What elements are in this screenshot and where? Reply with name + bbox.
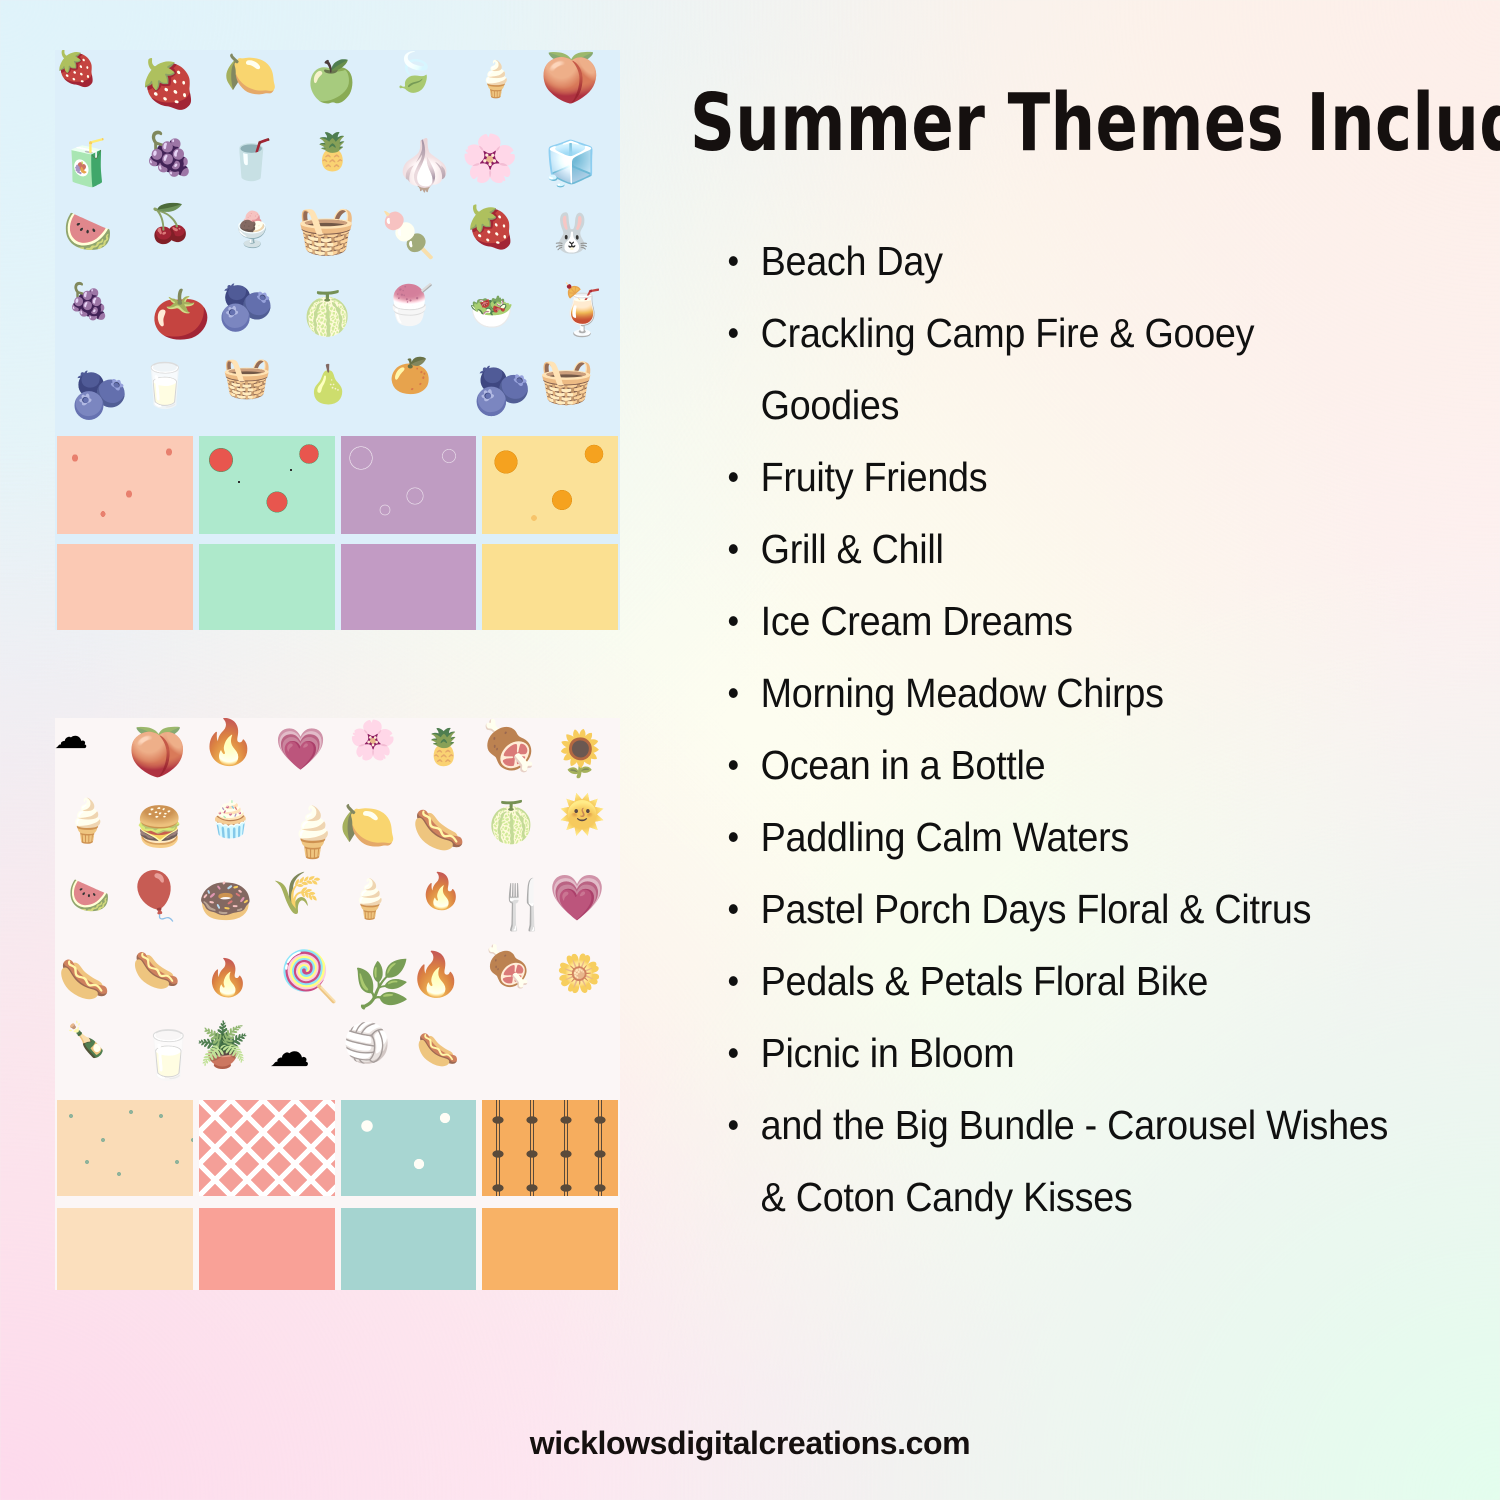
- citrus-line-pattern: [341, 436, 477, 534]
- watermelon-icon: 🍉: [68, 879, 110, 913]
- flower-icon: 🌸: [461, 135, 518, 181]
- grill-and-chill-pattern-row: [55, 1100, 620, 1196]
- theme-list-item: Pedals & Petals Floral Bike: [722, 945, 1398, 1017]
- strawberry-icon: 🍓: [55, 52, 97, 86]
- cream-popsicle-icon: 🍡: [381, 214, 436, 258]
- blue-drink-icon: 🥤: [227, 141, 276, 180]
- mint-swatch: [199, 544, 335, 630]
- grape-monster-icon: 🍇: [67, 284, 111, 319]
- cocktail-icon: 🍹: [552, 287, 613, 336]
- beach-ball-icon: 🏐: [343, 1025, 390, 1063]
- cream-swatch: [57, 1208, 193, 1290]
- fruity-friends-preview-panel: 🍓🍓🍋🍏🍃🍦🍑🧃🍇🥤🍍🧄🌸🧊🍉🍒🍨🧺🍡🍓🐰🍇🍅🫐🍈🍧🥗🍹🫐🥛🧺🍐🍊🫐🧺: [55, 50, 620, 630]
- site-footer: wicklowsdigitalcreations.com: [0, 1425, 1500, 1500]
- sausage-icon: 🌭: [412, 810, 466, 853]
- white-onion-icon: 🧄: [394, 142, 455, 191]
- lemon-slice-icon: 🍋: [339, 802, 396, 848]
- theme-list-item: Picnic in Bloom: [722, 1017, 1398, 1089]
- mint-popsicle-icon: 🍦: [474, 62, 518, 97]
- salmon-swatch: [199, 1208, 335, 1290]
- heart-icon: 💗: [275, 729, 326, 770]
- plum-icon: 🫐: [473, 367, 532, 414]
- page-title: Summer Themes Included:: [690, 78, 1448, 170]
- bottle-icon: 🍾: [65, 1023, 107, 1057]
- theme-list: Beach DayCrackling Camp Fire & Gooey Goo…: [722, 225, 1457, 1233]
- cloud-icon: ☁: [55, 720, 88, 754]
- fruity-friends-sticker-art: 🍓🍓🍋🍏🍃🍦🍑🧃🍇🥤🍍🧄🌸🧊🍉🍒🍨🧺🍡🍓🐰🍇🍅🫐🍈🍧🥗🍹🫐🥛🧺🍐🍊🫐🧺: [55, 50, 620, 432]
- green-apple-icon: 🍏: [306, 61, 357, 102]
- grill-and-chill-preview-panel: ☁🍑🔥💗🌸🍍🍖🌻🍦🍔🧁🍦🍋🌭🍈🌞🍉🎈🍩🌾🍦🔥🍴💗🌭🌭🔥🍭🌿🔥🍖🌼🍾🥛🪴☁🏐🌭: [55, 718, 620, 1290]
- peach-icon: 🍑: [540, 55, 600, 103]
- strawberry-pattern: [57, 436, 193, 534]
- popsicle-icon: 🍦: [61, 800, 113, 842]
- red-tomato-icon: 🍅: [151, 292, 211, 340]
- watermelon-pattern: [199, 436, 335, 534]
- potted-plant-icon: 🪴: [195, 1024, 250, 1068]
- bunny-girl-icon: 🐰: [548, 215, 595, 253]
- lemon-slice-icon: 🍋: [223, 53, 278, 97]
- white-cross-pattern: [199, 1100, 335, 1196]
- pink-grill-icon: 🍖: [483, 947, 533, 987]
- daisy-pattern: [341, 1100, 477, 1196]
- orange-slice-pattern: [482, 436, 618, 534]
- fruity-friends-color-row: [55, 544, 620, 630]
- strawberry-popsicle-icon: 🍧: [385, 286, 434, 325]
- theme-list-item: Grill & Chill: [722, 513, 1398, 585]
- theme-list-item: Beach Day: [722, 225, 1398, 297]
- watermelon-slice-icon: 🍉: [63, 212, 113, 252]
- theme-list-item: Crackling Camp Fire & Gooey Goodies: [722, 297, 1398, 441]
- grapes-icon: 🍇: [143, 133, 195, 175]
- sun-icon: 🌞: [559, 796, 605, 833]
- green-strawberry-icon: 🍓: [139, 60, 198, 107]
- fruit-basket-icon: 🧺: [222, 358, 272, 398]
- theme-list-item: Ocean in a Bottle: [722, 729, 1398, 801]
- lime-icon: 🍈: [301, 293, 353, 335]
- balloon-heart-icon: 🎈: [125, 872, 184, 919]
- grill-and-chill-color-row: [55, 1208, 620, 1290]
- pineapple-icon: 🍍: [310, 134, 355, 170]
- flame-icon: 🔥: [201, 721, 256, 765]
- corn-dog-icon: 🌭: [58, 959, 110, 1001]
- daisy-icon: 🌼: [556, 955, 602, 992]
- hot-dog-icon: 🌭: [132, 952, 181, 991]
- theme-list-item: Ice Cream Dreams: [722, 585, 1398, 657]
- flower-icon: 🌸: [349, 722, 396, 760]
- grill-and-chill-sticker-art: ☁🍑🔥💗🌸🍍🍖🌻🍦🍔🧁🍦🍋🌭🍈🌞🍉🎈🍩🌾🍦🔥🍴💗🌭🌭🔥🍭🌿🔥🍖🌼🍾🥛🪴☁🏐🌭: [55, 718, 620, 1096]
- pink-cube-icon: 🧊: [544, 143, 598, 186]
- drink-glass-icon: 🥛: [139, 1031, 198, 1078]
- pink-popsicle-icon: 🍦: [282, 809, 343, 858]
- campfire-icon: 🔥: [205, 960, 250, 996]
- fruity-friends-pattern-row: [55, 436, 620, 534]
- pink-heart-icon: 💗: [549, 875, 605, 920]
- yellow-swatch: [482, 544, 618, 630]
- green-hearts-pattern: [57, 1100, 193, 1196]
- campfire-bowl-icon: 🔥: [419, 874, 463, 909]
- mauve-swatch: [341, 544, 477, 630]
- donut-icon: 🍩: [198, 880, 253, 924]
- blueberry-icon: 🫐: [218, 285, 274, 330]
- themes-content-column: Summer Themes Included: Beach DayCrackli…: [660, 0, 1480, 1500]
- pear-icon: 🍐: [305, 366, 351, 403]
- bbq-grill-pattern: [482, 1100, 618, 1196]
- pineapple-icon: 🍍: [422, 730, 466, 765]
- wheat-icon: 🌾: [272, 873, 323, 914]
- juice-bottle-icon: 🧃: [59, 140, 115, 185]
- bbq-grill-icon: 🍖: [479, 723, 539, 771]
- berry-box-icon: 🧺: [539, 360, 594, 404]
- sausage-link-icon: 🌭: [416, 1033, 460, 1068]
- orange-swatch: [482, 1208, 618, 1290]
- peach-swatch: [57, 544, 193, 630]
- leaf-icon: 🍃: [390, 54, 437, 92]
- picnic-basket-icon: 🧺: [297, 206, 356, 253]
- ice-cream-cone-icon: 🍦: [346, 881, 393, 919]
- cherry-icon: 🍒: [147, 205, 193, 242]
- theme-list-item: and the Big Bundle - Carousel Wishes & C…: [722, 1089, 1398, 1233]
- ice-cream-cup-icon: 🍨: [231, 213, 273, 247]
- teal-swatch: [341, 1208, 477, 1290]
- spatula-icon: 🍴: [493, 882, 553, 930]
- melon-slice-icon: 🍈: [486, 803, 536, 843]
- burger-icon: 🍔: [135, 808, 184, 847]
- sunflower-icon: 🌻: [552, 731, 608, 776]
- blue-berry-bowl-icon: 🫐: [71, 372, 128, 418]
- theme-list-item: Pastel Porch Days Floral & Citrus: [722, 873, 1398, 945]
- theme-list-item: Morning Meadow Chirps: [722, 657, 1398, 729]
- leaf-branch-icon: 🌿: [353, 961, 410, 1007]
- lollipop-icon: 🍭: [279, 953, 340, 1002]
- cloud-icon: ☁: [269, 1032, 310, 1073]
- peach-icon: 🍑: [128, 728, 187, 775]
- strawberry-icon: 🍓: [465, 207, 516, 248]
- theme-list-item: Fruity Friends: [722, 441, 1398, 513]
- milk-carton-icon: 🥛: [138, 365, 192, 408]
- cupcake-icon: 🧁: [208, 801, 253, 837]
- fruit-bowl-icon: 🥗: [469, 294, 514, 330]
- theme-list-item: Paddling Calm Waters: [722, 801, 1398, 873]
- orange-icon: 🍊: [389, 359, 431, 393]
- bonfire-icon: 🔥: [409, 954, 463, 997]
